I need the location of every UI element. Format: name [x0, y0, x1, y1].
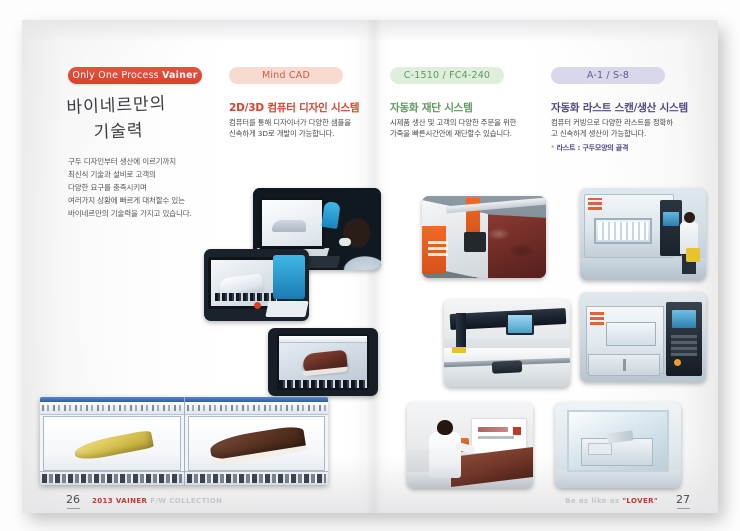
photo-cad-dual-monitor-last [204, 249, 309, 321]
cutting-head [492, 360, 523, 374]
photo-cutting-worker [407, 402, 533, 488]
footer-text-left: 2013 VAINER F/W COLLECTION [92, 497, 222, 505]
window-toolbar [185, 471, 329, 485]
footer-tagline-prefix: Be as like as [565, 497, 622, 505]
window-menubar [40, 402, 184, 415]
worker-head [437, 420, 453, 435]
badge-only-one-process-vainer: Only One Process Vainer [68, 67, 202, 84]
machine-rail [446, 198, 546, 214]
machine-logo [588, 198, 602, 210]
photo-inner [580, 292, 706, 382]
photo-inner [40, 397, 328, 485]
body-mind-cad: 컴퓨터를 통해 디자이너가 다양한 샘플을 신속하게 3D로 개발이 가능합니다… [229, 117, 357, 140]
left-monitor-screen [208, 257, 276, 309]
screen-shoe-render [272, 220, 306, 232]
photo-inner [580, 188, 706, 280]
page-number-left: 26 [66, 493, 80, 506]
control-cabinet [660, 200, 682, 256]
badge-mind-cad: Mind CAD [229, 67, 343, 84]
photo-inner [444, 299, 570, 387]
window-toolbar [40, 471, 184, 485]
yellow-bin [686, 248, 700, 262]
footer-text-right: Be as like as "LOVER" [565, 497, 658, 505]
left-page-body-text: 구두 디자인부터 생산에 이르기까지 최신식 기술과 설비로 고객의 다양한 요… [68, 156, 233, 220]
heading-last-scan: 자동화 라스트 스캔/생산 시스템 [551, 100, 688, 115]
cad-canvas [43, 416, 181, 471]
red-indicator [254, 302, 261, 309]
note-last-text: 라스트 : 구두모양의 골격 [554, 144, 628, 152]
handwriting-line-2: 기술력 [93, 115, 218, 147]
cnc-indicator-light [674, 359, 681, 366]
photo-inner [407, 402, 533, 488]
cad-menubar [279, 336, 367, 343]
photo-inner [204, 249, 309, 321]
photo-cad-brown-shoe-render [268, 328, 378, 396]
right-monitor-screen [273, 255, 305, 299]
photo-last-clean-cabinet [555, 402, 681, 488]
heading-mind-cad: 2D/3D 컴퓨터 디자인 시스템 [229, 100, 359, 115]
cad-window-yellow-last [40, 397, 184, 485]
machine-logo [590, 312, 604, 325]
cad-toolbar [279, 380, 367, 388]
room-floor [555, 470, 681, 488]
sign-logo-mark [513, 427, 521, 435]
handwriting-title: 바이네르만의 기술력 [66, 89, 218, 148]
cad-toolbar [215, 293, 277, 301]
photo-cutting-machine-large [444, 299, 570, 387]
photo-inner [555, 402, 681, 488]
cnc-control-panel [666, 302, 702, 376]
body-cutting: 시제품 생산 및 고객의 다양한 주문을 위한 가죽을 빠른시간안에 재단할수 … [390, 117, 518, 140]
machine-window [594, 218, 652, 244]
machine-logo [428, 240, 448, 256]
cad-window-boat-shoe [184, 397, 329, 485]
photo-inner [268, 328, 378, 396]
photo-last-production-cnc [580, 292, 706, 382]
badge-cutting-model: C-1510 / FC4-240 [390, 67, 504, 84]
photo-inner [422, 196, 546, 278]
badge-prefix: Only One Process [72, 70, 162, 81]
control-panel-screen [506, 313, 534, 335]
cnc-keypad [671, 334, 697, 356]
monitor-screen [277, 334, 369, 390]
page-top-shade [22, 20, 718, 42]
body-last-scan: 컴퓨터 커빙으로 다양한 라스트를 정확하고 신속하게 생산이 가능합니다. [551, 117, 679, 140]
brochure-spread: Only One Process Vainer Mind CAD C-1510 … [22, 20, 718, 513]
photo-cad-window-strip [40, 397, 328, 485]
footer-collection: F/W COLLECTION [150, 497, 222, 505]
cad-canvas [188, 416, 326, 471]
badge-last-model: A-1 / S-8 [551, 67, 665, 84]
heading-cutting: 자동화 재단 시스템 [390, 100, 473, 115]
photo-last-scan-room [580, 188, 706, 280]
badge-brand: Vainer [162, 70, 198, 81]
monitor-screen [259, 197, 325, 249]
cnc-screen [672, 310, 696, 328]
yellow-last-render [73, 430, 154, 463]
desk-surface [265, 301, 308, 317]
machine-cabinet-doors [588, 354, 660, 376]
operator-head [684, 212, 695, 223]
brown-boat-shoe-render [209, 425, 306, 463]
brochure-page: Only One Process Vainer Mind CAD C-1510 … [22, 20, 718, 513]
photo-cutting-machine-orange [422, 196, 546, 278]
blue-last-render [321, 201, 340, 229]
machine-viewing-glass [606, 322, 656, 346]
sign-brand-text [478, 427, 508, 432]
cutting-head [464, 232, 486, 252]
window-menubar [185, 402, 329, 415]
sign-sub-text [478, 436, 514, 439]
note-last-definition: * 라스트 : 구두모양의 골격 [551, 143, 628, 153]
footer-tagline-strong: "LOVER" [622, 497, 658, 505]
page-number-right: 27 [676, 493, 690, 506]
yellow-label [452, 347, 466, 353]
footer-year: 2013 VAINER [92, 497, 150, 505]
worker-body [429, 432, 461, 478]
screenshot-stage: Only One Process Vainer Mind CAD C-1510 … [0, 0, 740, 531]
handwriting-line-1: 바이네르만의 [66, 94, 167, 118]
mouse [339, 238, 351, 246]
